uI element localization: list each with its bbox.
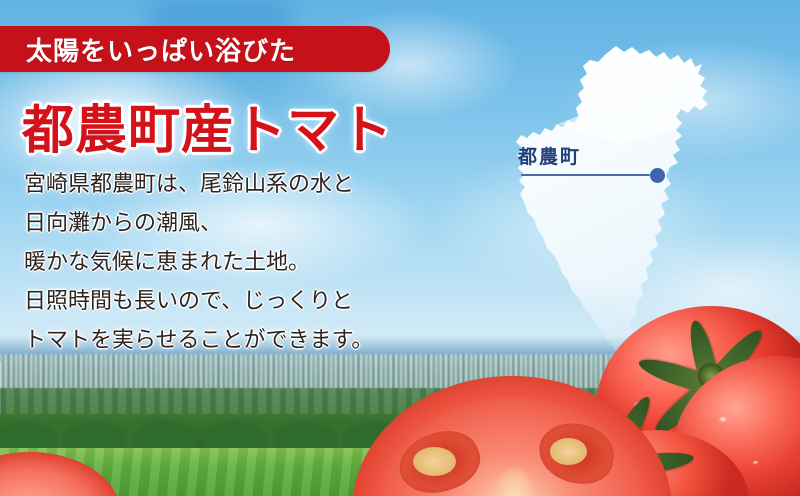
description-block: 宮崎県都農町は、尾鈴山系の水と 日向灘からの潮風、 暖かな気候に恵まれた土地。 … xyxy=(24,168,474,363)
tomato-core xyxy=(490,465,538,496)
description-line: トマトを実らせることができます。 xyxy=(24,324,474,357)
description-line: 日照時間も長いので、じっくりと xyxy=(24,285,474,318)
map-leader-line xyxy=(521,174,655,176)
tomato-flesh xyxy=(378,397,647,496)
water-droplet xyxy=(718,416,732,427)
page-title: 都農町産トマト xyxy=(22,88,393,163)
tagline-text: 太陽をいっぱい浴びた xyxy=(26,31,296,68)
tomato-locule xyxy=(534,492,629,496)
map-location-label: 都農町 xyxy=(518,142,581,169)
promo-poster: 都農町 xyxy=(0,0,800,496)
map-location-dot xyxy=(650,168,665,183)
description-line: 暖かな気候に恵まれた土地。 xyxy=(24,246,474,279)
water-droplet xyxy=(752,460,762,468)
description-line: 宮崎県都農町は、尾鈴山系の水と xyxy=(24,168,474,201)
tomato-seeds xyxy=(413,447,456,476)
description-line: 日向灘からの潮風、 xyxy=(24,207,474,240)
tagline-banner: 太陽をいっぱい浴びた xyxy=(0,26,390,72)
tomato-seeds xyxy=(550,438,588,465)
